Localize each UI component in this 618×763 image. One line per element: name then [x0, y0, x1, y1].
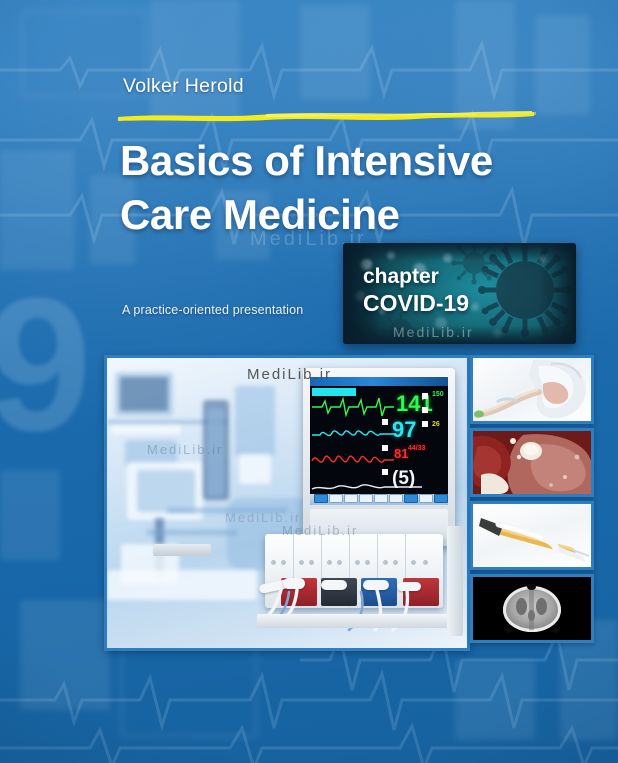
monitor-button[interactable]	[374, 494, 388, 503]
author-name: Volker Herold	[123, 75, 244, 98]
monitor-blood-pressure: 81	[394, 447, 408, 460]
monitor-button[interactable]	[344, 494, 358, 503]
thumbnail-airway-intubation-manikin	[470, 355, 594, 424]
thumbnail-column	[470, 355, 594, 645]
infusion-pump-stack	[257, 526, 467, 648]
monitor-button[interactable]	[389, 494, 403, 503]
pump-tray	[257, 614, 457, 628]
main-photo-icu-room: 141 97 81 44/33 (5) 150 26	[104, 355, 470, 651]
covid-badge-text: chapter COVID-19	[363, 265, 469, 317]
monitor-spo2: 97	[392, 419, 416, 441]
patient-monitor: 141 97 81 44/33 (5) 150 26	[303, 368, 455, 546]
title-line-2: Care Medicine	[120, 188, 580, 242]
endoscopy-illustration	[473, 431, 591, 494]
yellow-highlight-stroke	[116, 106, 538, 126]
title-line-1: Basics of Intensive	[120, 134, 580, 188]
monitor-bp-detail: 44/33	[408, 445, 426, 452]
covid-badge-line-1: chapter	[363, 265, 469, 290]
thumbnail-catheter-instruments	[470, 501, 594, 570]
monitor-screen: 141 97 81 44/33 (5) 150 26	[310, 377, 448, 505]
covid-badge-watermark: MediLib.ir	[393, 324, 474, 340]
infusion-tubing	[257, 526, 467, 648]
monitor-button[interactable]	[314, 494, 328, 503]
watermark-primary: MediLib.ir	[247, 366, 332, 383]
intubation-illustration	[473, 358, 591, 421]
thumbnail-ct-brain-scan	[470, 574, 594, 643]
page-title: Basics of Intensive Care Medicine	[120, 134, 580, 242]
watermark-soft-low: MediLib.ir	[225, 510, 301, 525]
watermark-soft-mid: MediLib.ir	[282, 523, 358, 538]
iv-pole	[447, 526, 463, 636]
monitor-alarm-limit-2: 26	[432, 421, 440, 428]
book-cover: 9 Volker Herold MediLib.ir Basics of Int…	[0, 0, 618, 763]
watermark-soft-left: MediLib.ir	[147, 442, 223, 457]
monitor-button[interactable]	[329, 494, 343, 503]
covid-chapter-badge: chapter COVID-19 MediLib.ir	[343, 243, 576, 344]
monitor-button[interactable]	[359, 494, 373, 503]
photo-collage: 141 97 81 44/33 (5) 150 26	[104, 355, 594, 645]
monitor-button[interactable]	[419, 494, 433, 503]
subtitle: A practice-oriented presentation	[122, 303, 303, 317]
monitor-cvp: (5)	[392, 469, 415, 488]
ct-brain-image	[503, 586, 561, 632]
monitor-button[interactable]	[404, 494, 418, 503]
monitor-alarm-limit-1: 150	[432, 391, 444, 398]
thumbnail-endoscopy-view	[470, 428, 594, 497]
monitor-stand	[153, 544, 211, 556]
monitor-button[interactable]	[434, 494, 448, 503]
catheter-illustration	[473, 504, 591, 567]
covid-badge-line-2: COVID-19	[363, 290, 469, 317]
